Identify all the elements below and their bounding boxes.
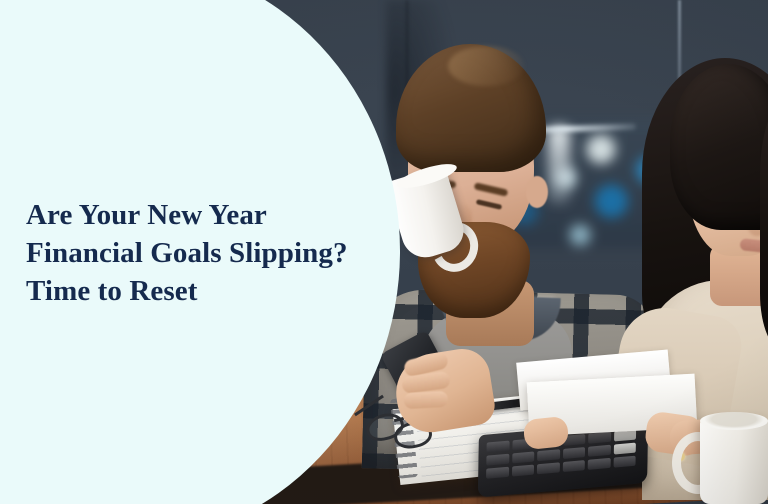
calculator-key: [588, 432, 611, 444]
headline-line-1: Are Your New Year: [26, 196, 386, 234]
calculator-key: [613, 456, 636, 468]
calculator-key: [486, 467, 509, 479]
man-hair-highlight: [448, 46, 524, 86]
headline-line-2: Financial Goals Slipping?: [26, 234, 386, 272]
calculator-key: [537, 462, 560, 474]
calculator-key: [588, 458, 611, 470]
man-finger-3: [404, 391, 449, 409]
page-title: Are Your New Year Financial Goals Slippi…: [26, 196, 386, 310]
calculator-key: [613, 443, 636, 455]
article-hero-banner: Are Your New Year Financial Goals Slippi…: [0, 0, 768, 504]
coffee-mug-table: [700, 418, 768, 504]
headline-line-3: Time to Reset: [26, 272, 386, 310]
man-hair: [396, 44, 546, 172]
man-ear: [526, 176, 548, 208]
calculator-key: [487, 441, 510, 453]
calculator-key: [563, 447, 586, 459]
woman-hair-front: [670, 64, 768, 230]
calculator-key: [486, 454, 509, 466]
calculator-key: [588, 445, 611, 457]
mug-rim-table: [700, 412, 768, 430]
calculator-key: [512, 451, 535, 463]
calculator-key: [537, 449, 560, 461]
calculator-key: [511, 465, 534, 477]
calculator-key: [562, 460, 585, 472]
